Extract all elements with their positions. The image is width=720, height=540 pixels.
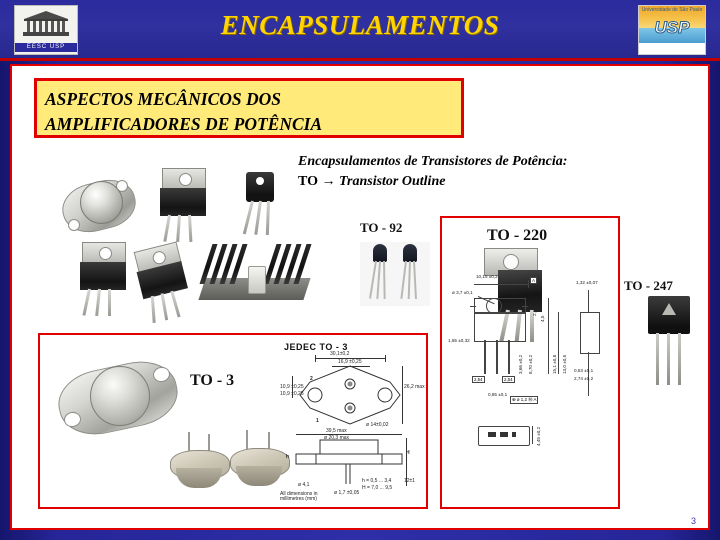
jedec-dim-20-3: ø 20,3 max [324,435,349,441]
to220-dim-8-70: 8,70 ±0,2 [528,355,533,374]
to220-dim-0-85: 0,85 ±0,1 [488,392,507,397]
to220-gdt-callout: ⊕ ø 1,2 Ⓜ A [510,396,538,404]
label-to-220: TO - 220 [487,227,547,245]
jedec-dim-39-5: 39,5 max [326,428,347,434]
page-number: 3 [691,516,696,526]
to220-pitch-tag-2: 2,54 [502,376,515,383]
jedec-dim-4-1: ø 4,1 [298,482,309,488]
content-panel: ASPECTOS MECÂNICOS DOS AMPLIFICADORES DE… [10,64,710,530]
drawing-to-220: 10,15 ±0,2 A ø 3,7 ±0,1 2,54 4,5 15,1 ±0… [448,246,614,504]
arrow-icon: → [321,174,335,189]
to220-side-body [580,312,600,354]
to220-dim-10-15: 10,15 ±0,2 [476,274,498,279]
photo-to247-package [638,296,702,390]
section-title-line1: ASPECTOS MECÂNICOS DOS [45,89,281,109]
to220-dim-13-0: 13,0 ±0,5 [562,355,567,374]
to220-dim-2-74: 2,74 ±0,2 [574,376,593,381]
jedec-note-units: All dimensions in millimetres (mm) [280,492,334,502]
to220-dim-hole: ø 3,7 ±0,1 [452,290,473,295]
slide-header: EESC USP ENCAPSULAMENTOS Universidade de… [0,0,720,61]
to220-datum-a: A [530,277,537,284]
usp-logo-top-text: Universidade de São Paulo [639,7,705,13]
photo-heatsink-with-device [202,244,307,306]
jedec-dim-16-9: 16,9 ±0,25 [338,359,362,365]
jedec-dim-hole-14: ø 14±0,02 [366,422,388,428]
subtitle: Encapsulamentos de Transistores de Potên… [298,152,698,192]
page-title: ENCAPSULAMENTOS [0,10,720,41]
drawing-jedec-to-3: JEDEC TO - 3 30,1±0,2 16,9 ±0,25 10,9 ±0… [280,342,420,504]
section-title-text: ASPECTOS MECÂNICOS DOS AMPLIFICADORES DE… [45,87,463,137]
usp-logo-base [639,43,705,54]
photo-to220-package-3 [126,240,200,326]
to220-dim-4-45: 4,45 ±0,2 [536,427,541,446]
subtitle-to-expansion: Transistor Outline [339,174,445,189]
jedec-pin-1-label: 1 [316,418,319,424]
photo-to92-pair [360,242,430,306]
photo-to3-pair-bottom [170,428,290,498]
photo-to3-metal-can [62,174,134,236]
to220-dim-15-1: 15,1 ±0,8 [552,355,557,374]
triangle-mark-icon [662,303,676,315]
section-title-line2: AMPLIFICADORES DE POTÊNCIA [45,114,322,134]
slide: EESC USP ENCAPSULAMENTOS Universidade de… [0,0,720,540]
jedec-dim-30-1: 30,1±0,2 [330,351,349,357]
to220-dim-1-32: 1,32 ±0,07 [576,280,598,285]
photo-to220-package [154,168,212,242]
jedec-dim-26-2: 26,2 max [404,384,425,390]
to220-dim-1-65: 1,65 ±0,32 [448,338,470,343]
to220-dim-4-5: 4,5 [540,316,545,322]
jedec-to3-top-view [298,364,402,426]
section-title-box: ASPECTOS MECÂNICOS DOS AMPLIFICADORES DE… [34,78,464,138]
to220-dim-0-53: 0,53 ±0,1 [574,368,593,373]
eesc-usp-logo-caption: EESC USP [15,43,77,52]
label-to-92: TO - 92 [360,220,402,236]
to220-dim-2-54: 2,54 [532,307,537,316]
jedec-dim-H-range: H = 7,0 ... 9,5 [362,485,392,491]
usp-logo: Universidade de São Paulo USP [638,5,706,55]
jedec-dim-1-7: ø 1,7 ±0,05 [334,490,359,496]
subtitle-line1: Encapsulamentos de Transistores de Potên… [298,154,567,169]
jedec-label-h: h [286,454,289,460]
label-to-247: TO - 247 [624,278,673,294]
label-to-3: TO - 3 [190,372,234,390]
photo-to126-package [240,172,280,236]
usp-logo-mark: USP [639,19,705,36]
to220-body [474,312,526,342]
photo-to3-large [58,356,176,442]
photo-group-packages [54,162,314,312]
jedec-dim-h-range: h = 0,5 ... 3,4 [362,478,391,484]
jedec-pin-2-label: 2 [310,376,313,382]
to220-dim-3-66: 3,66 ±0,2 [518,355,523,374]
photo-to220-package-2 [74,242,132,316]
to220-pitch-tag-1: 2,54 [472,376,485,383]
